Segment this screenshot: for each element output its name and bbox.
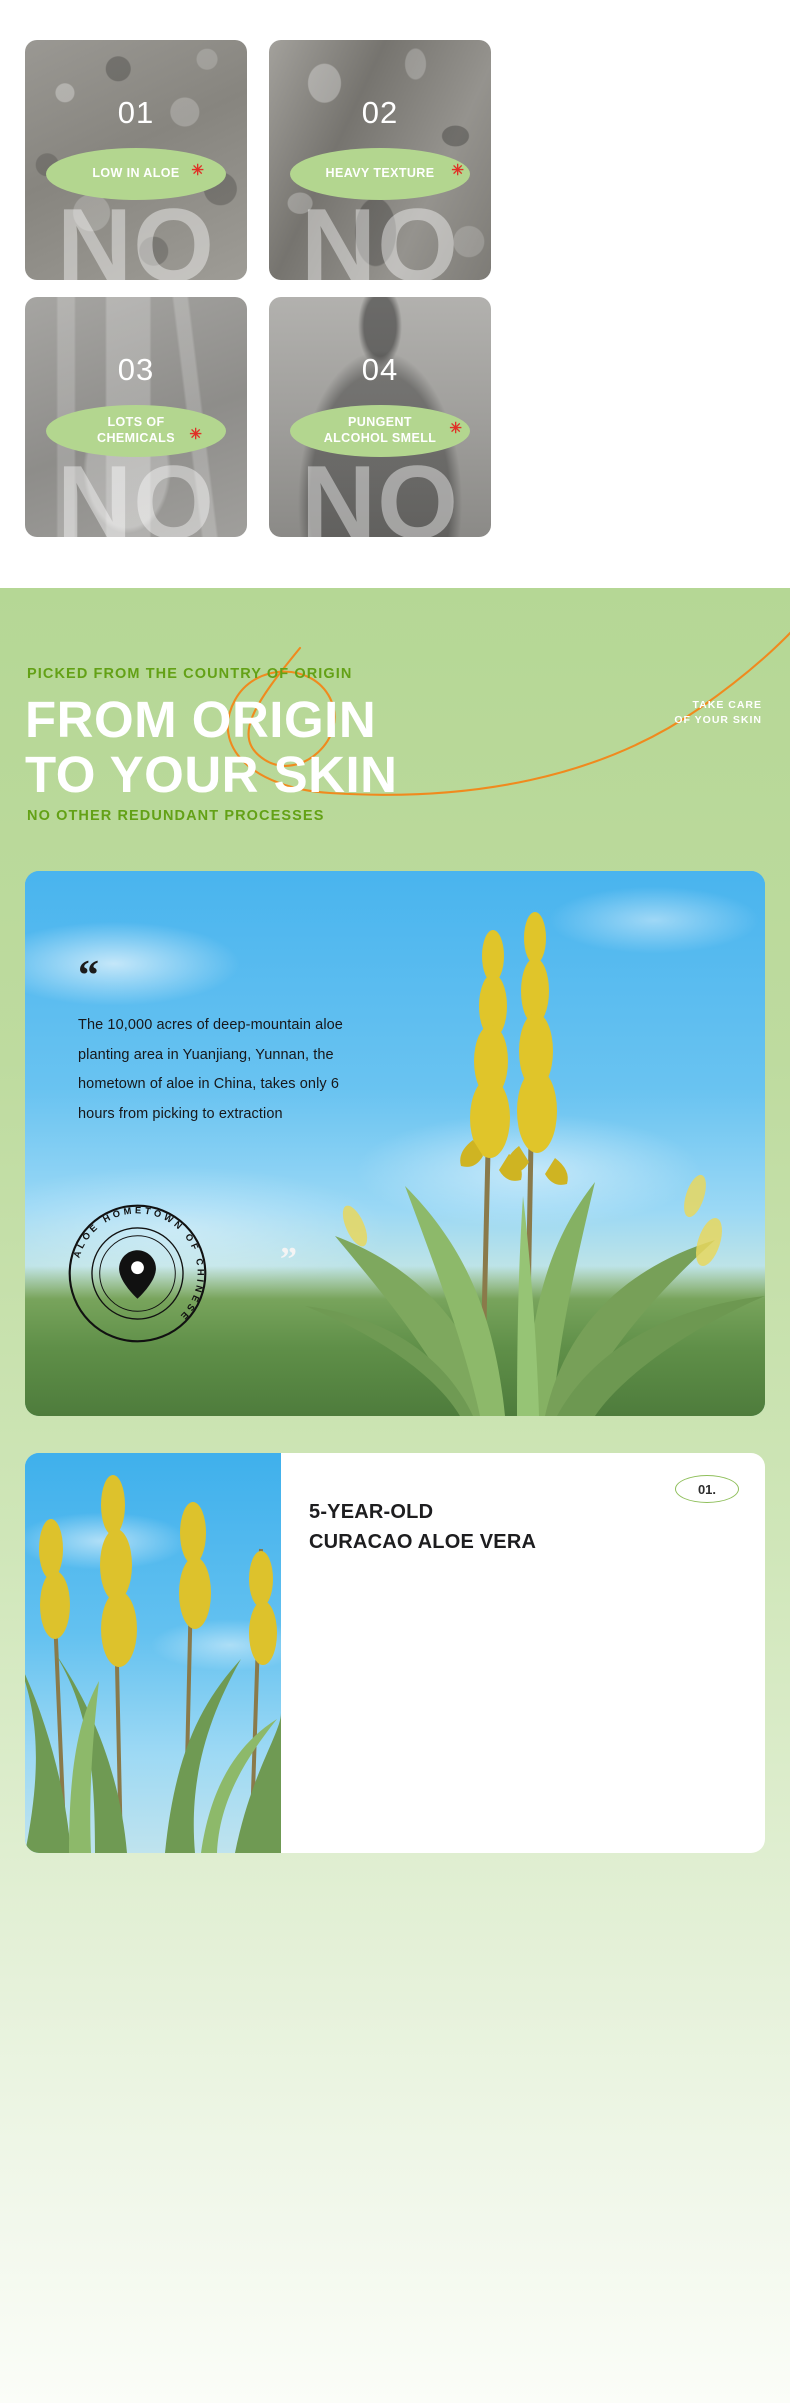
card-number-03: 03: [25, 352, 247, 388]
card-number-02: 02: [269, 95, 491, 131]
origin-kicker: PICKED FROM THE COUNTRY OF ORIGIN: [27, 666, 353, 682]
origin-heading-line1: FROM ORIGIN: [25, 692, 398, 747]
asterisk-icon: ✳: [191, 163, 204, 178]
take-care-line2: OF YOUR SKIN: [674, 713, 762, 728]
hero-quote-text: The 10,000 acres of deep-mountain aloe p…: [78, 1011, 378, 1129]
location-pin-icon: [119, 1250, 156, 1298]
no-card-03[interactable]: NO 03 LOTS OFCHEMICALS ✳: [25, 297, 247, 537]
card-label-text-03: LOTS OFCHEMICALS: [97, 415, 175, 446]
feature-title: 5-YEAR-OLD CURACAO ALOE VERA: [309, 1497, 731, 1557]
quote-close-mark: ”: [280, 1243, 297, 1277]
take-care-caption: TAKE CARE OF YOUR SKIN: [674, 698, 762, 728]
card-label-text-02: HEAVY TEXTURE: [326, 166, 435, 182]
no-cards-grid: NO 01 LOW IN ALOE ✳ NO 02 HEAVY TEXTURE …: [25, 40, 765, 537]
ghost-no-text: NO: [25, 194, 247, 280]
no-card-01[interactable]: NO 01 LOW IN ALOE ✳: [25, 40, 247, 280]
origin-heading-line2: TO YOUR SKIN: [25, 747, 398, 802]
asterisk-icon: ✳: [449, 421, 462, 436]
card-label-text-01: LOW IN ALOE: [92, 166, 179, 182]
feature-title-line1: 5-YEAR-OLD: [309, 1497, 731, 1527]
ghost-no-text: NO: [25, 451, 247, 537]
ghost-no-text: NO: [269, 194, 491, 280]
aloe-plant-illustration: [295, 896, 765, 1416]
origin-hero-card: “ The 10,000 acres of deep-mountain aloe…: [25, 871, 765, 1416]
feature-aloe-illustration: [25, 1453, 281, 1853]
asterisk-icon: ✳: [189, 427, 202, 442]
feature-title-line2: CURACAO ALOE VERA: [309, 1527, 731, 1557]
take-care-line1: TAKE CARE: [674, 698, 762, 713]
product-feature-card[interactable]: 01. 5-YEAR-OLD CURACAO ALOE VERA: [25, 1453, 765, 1853]
product-landing-page: NO 01 LOW IN ALOE ✳ NO 02 HEAVY TEXTURE …: [0, 0, 790, 2403]
feature-text-column: 01. 5-YEAR-OLD CURACAO ALOE VERA: [281, 1453, 765, 1853]
no-card-02[interactable]: NO 02 HEAVY TEXTURE ✳: [269, 40, 491, 280]
card-label-pill-02[interactable]: HEAVY TEXTURE ✳: [290, 148, 470, 200]
card-label-pill-01[interactable]: LOW IN ALOE ✳: [46, 148, 226, 200]
origin-subheading: NO OTHER REDUNDANT PROCESSES: [27, 808, 324, 824]
feature-photo: [25, 1453, 281, 1853]
no-card-04[interactable]: NO 04 PUNGENTALCOHOL SMELL ✳: [269, 297, 491, 537]
aloe-hometown-stamp-badge: ALOE HOMETOWN OF CHINESE: [60, 1196, 215, 1351]
card-label-pill-04[interactable]: PUNGENTALCOHOL SMELL ✳: [290, 405, 470, 457]
origin-heading: FROM ORIGIN TO YOUR SKIN: [25, 692, 398, 802]
ghost-no-text: NO: [269, 451, 491, 537]
feature-index-badge: 01.: [675, 1475, 739, 1503]
card-number-04: 04: [269, 352, 491, 388]
card-number-01: 01: [25, 95, 247, 131]
asterisk-icon: ✳: [451, 163, 464, 178]
card-label-text-04: PUNGENTALCOHOL SMELL: [324, 415, 437, 446]
quote-open-mark: “: [78, 955, 99, 997]
card-label-pill-03[interactable]: LOTS OFCHEMICALS ✳: [46, 405, 226, 457]
